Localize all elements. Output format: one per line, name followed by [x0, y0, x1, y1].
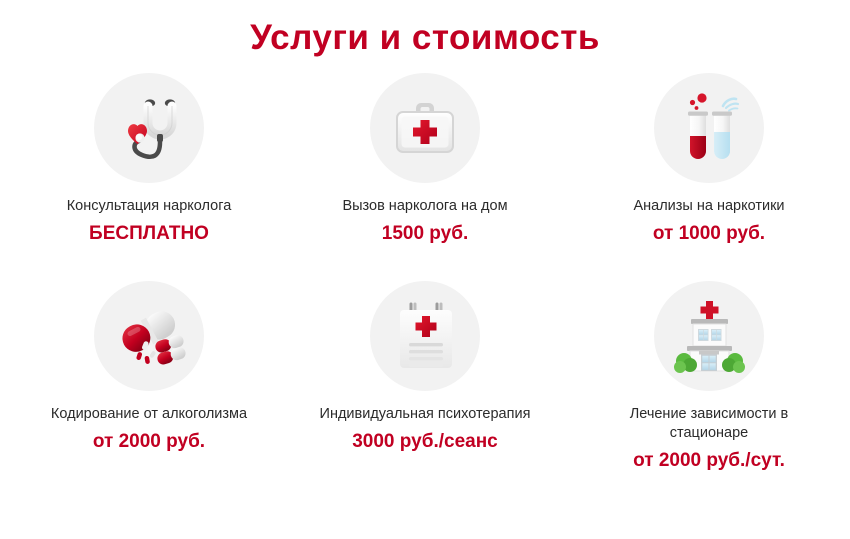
service-name: Консультация нарколога: [67, 197, 232, 216]
service-price: БЕСПЛАТНО: [89, 222, 209, 245]
page-title: Услуги и стоимость: [0, 0, 850, 55]
service-price: от 2000 руб./сут.: [633, 449, 785, 472]
service-card-psychotherapy[interactable]: Индивидуальная психотерапия 3000 руб./се…: [288, 281, 562, 489]
medical-chart-icon: [370, 281, 480, 391]
service-price: от 1000 руб.: [653, 222, 765, 245]
test-tubes-icon: [654, 73, 764, 183]
service-name: Индивидуальная психотерапия: [320, 405, 531, 424]
service-name: Анализы на наркотики: [633, 197, 784, 216]
service-card-consultation[interactable]: Консультация нарколога БЕСПЛАТНО: [12, 73, 286, 281]
service-card-drug-tests[interactable]: Анализы на наркотики от 1000 руб.: [572, 73, 846, 281]
first-aid-kit-icon: [370, 73, 480, 183]
services-grid: Консультация нарколога БЕСПЛАТНО: [0, 73, 850, 489]
pills-capsule-icon: [94, 281, 204, 391]
services-pricing-page: Услуги и стоимость: [0, 0, 850, 539]
service-name: Лечение зависимости в стационаре: [594, 405, 824, 443]
service-price: от 2000 руб.: [93, 430, 205, 453]
service-price: 1500 руб.: [382, 222, 468, 245]
service-name: Кодирование от алкоголизма: [51, 405, 247, 424]
service-card-inpatient[interactable]: Лечение зависимости в стационаре от 2000…: [572, 281, 846, 489]
service-card-coding[interactable]: Кодирование от алкоголизма от 2000 руб.: [12, 281, 286, 489]
service-price: 3000 руб./сеанс: [352, 430, 498, 453]
service-name: Вызов нарколога на дом: [342, 197, 507, 216]
hospital-building-icon: [654, 281, 764, 391]
stethoscope-heart-icon: [94, 73, 204, 183]
service-card-home-visit[interactable]: Вызов нарколога на дом 1500 руб.: [288, 73, 562, 281]
